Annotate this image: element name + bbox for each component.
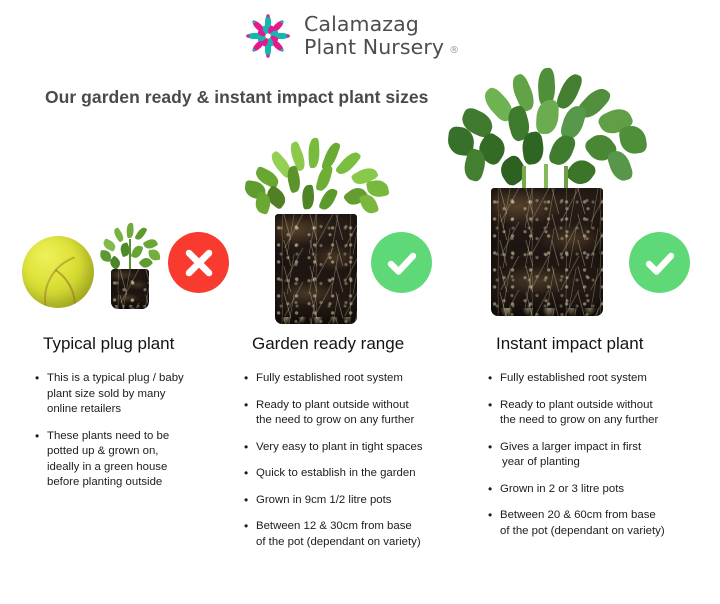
feature-list-garden-ready-range: Fully established root system Ready to p…	[243, 371, 453, 561]
brand-wordmark: Calamazag Plant Nursery ®	[304, 13, 459, 59]
plug-plant-figure	[100, 223, 160, 311]
column-heading-garden-ready-range: Garden ready range	[252, 334, 404, 354]
status-badge-check-instant-impact	[629, 232, 690, 293]
column-heading-instant-impact-plant: Instant impact plant	[496, 334, 643, 354]
list-item: These plants need to be potted up & grow…	[34, 429, 230, 491]
column-heading-typical-plug-plant: Typical plug plant	[43, 334, 174, 354]
list-item: Grown in 9cm 1/2 litre pots	[243, 493, 453, 509]
feature-list-instant-impact-plant: Fully established root system Ready to p…	[487, 371, 699, 550]
list-item: Fully established root system	[487, 371, 699, 387]
list-item: Fully established root system	[243, 371, 453, 387]
list-item: Grown in 2 or 3 litre pots	[487, 482, 699, 498]
list-item: Gives a larger impact in first year of p…	[487, 440, 699, 471]
tennis-ball-figure	[22, 236, 94, 308]
registered-trademark-icon: ®	[449, 45, 459, 56]
status-badge-check-garden-ready	[371, 232, 432, 293]
garden-ready-plant-figure	[246, 140, 386, 330]
brand-line-1: Calamazag	[304, 13, 459, 36]
check-icon	[642, 245, 678, 281]
plant-size-comparison-figures	[0, 60, 720, 325]
cross-icon	[182, 246, 216, 280]
list-item: This is a typical plug / baby plant size…	[34, 371, 230, 418]
list-item: Between 20 & 60cm from base of the pot (…	[487, 508, 699, 539]
check-icon	[384, 245, 420, 281]
brand-line-2: Plant Nursery	[304, 36, 444, 59]
list-item: Ready to plant outside without the need …	[243, 398, 453, 429]
list-item: Between 12 & 30cm from base of the pot (…	[243, 519, 453, 550]
brand-logo: Calamazag Plant Nursery ®	[244, 12, 459, 60]
list-item: Very easy to plant in tight spaces	[243, 440, 453, 456]
feature-list-typical-plug-plant: This is a typical plug / baby plant size…	[34, 371, 230, 502]
instant-impact-plant-figure	[452, 70, 642, 325]
flower-burst-logo-icon	[244, 12, 292, 60]
list-item: Quick to establish in the garden	[243, 466, 453, 482]
status-badge-cross	[168, 232, 229, 293]
list-item: Ready to plant outside without the need …	[487, 398, 699, 429]
